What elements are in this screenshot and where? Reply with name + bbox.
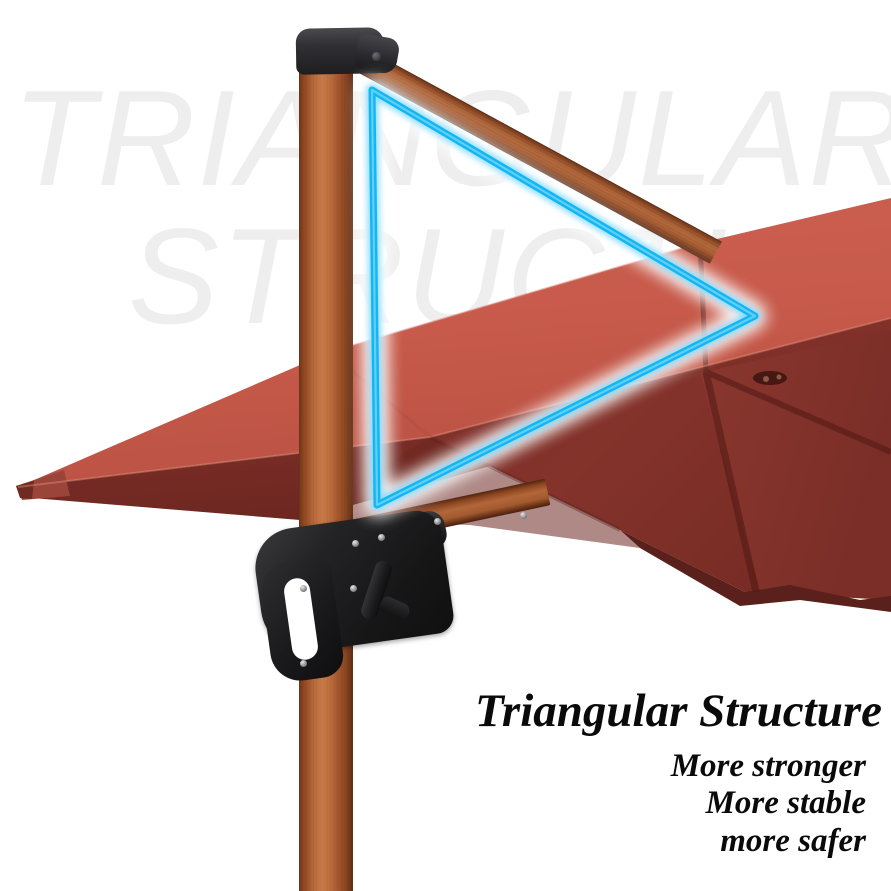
benefit-line-3: more safer bbox=[370, 823, 866, 860]
handle-rivet-icon bbox=[300, 585, 307, 592]
arm-rivet-icon bbox=[434, 518, 441, 525]
page-title: Triangular Structure bbox=[370, 688, 882, 736]
top-pivot-bolt-icon bbox=[372, 52, 381, 61]
handle-rivet-icon bbox=[350, 585, 357, 592]
handle-rivet-icon bbox=[378, 534, 385, 541]
benefit-line-2: More stable bbox=[370, 785, 866, 822]
handle-rivet-icon bbox=[352, 540, 359, 547]
handle-rivet-icon bbox=[300, 660, 307, 667]
mast-pole bbox=[299, 40, 353, 891]
benefit-list: More stronger More stable more safer bbox=[370, 748, 866, 860]
benefit-line-1: More stronger bbox=[370, 748, 866, 785]
product-image-canvas: TRIANGULAR STRUCTURE bbox=[0, 0, 891, 891]
arm-rivet-icon bbox=[520, 512, 527, 519]
